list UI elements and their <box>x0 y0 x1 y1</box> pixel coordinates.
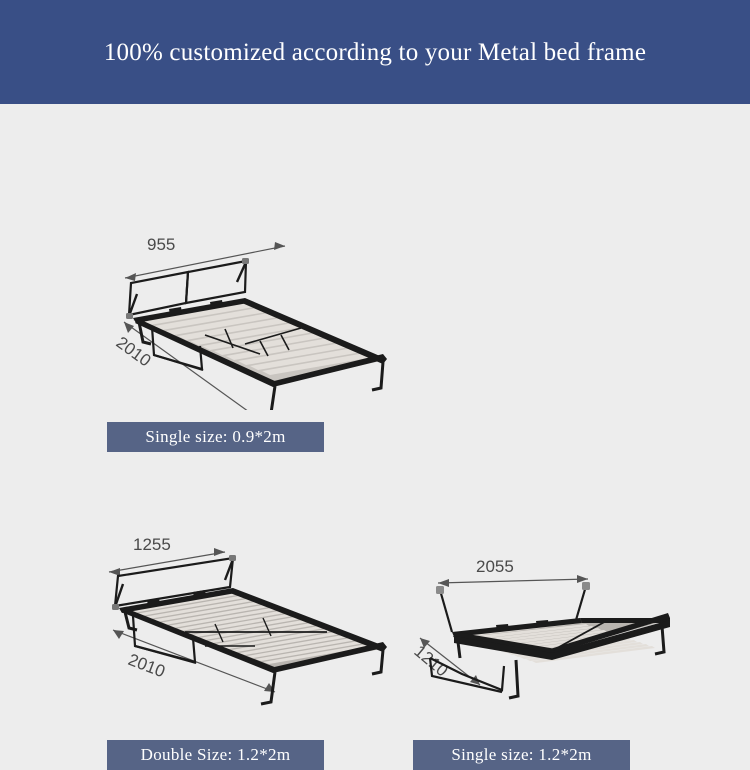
double-bed-frame-diagram: 1255 2010 <box>85 520 415 710</box>
size-badge-label: Single size: 1.2*2m <box>451 745 591 765</box>
size-badge-label: Single size: 0.9*2m <box>145 427 285 447</box>
size-badge-label: Double Size: 1.2*2m <box>141 745 291 765</box>
page-title: 100% customized according to your Metal … <box>104 40 646 65</box>
product-card-single-12: 2055 1210 <box>390 540 740 769</box>
bed-frame-graphic <box>126 258 387 410</box>
size-badge-single-12: Single size: 1.2*2m <box>413 740 630 770</box>
single-bed-frame-wide-diagram: 2055 1210 <box>390 540 740 710</box>
size-badge-double-12: Double Size: 1.2*2m <box>107 740 324 770</box>
dimension-label-2055: 2055 <box>476 557 514 576</box>
dimension-label-2010-double: 2010 <box>126 650 168 681</box>
bed-frame-graphic <box>430 582 670 698</box>
dimension-arrow-2055 <box>438 575 588 587</box>
product-card-single-09: 955 2010 <box>85 130 415 470</box>
size-badge-single-09: Single size: 0.9*2m <box>107 422 324 452</box>
dimension-label-955: 955 <box>147 235 175 254</box>
page-header-banner: 100% customized according to your Metal … <box>0 0 750 104</box>
product-card-double-12: 1255 2010 <box>85 520 415 769</box>
single-bed-frame-diagram: 955 2010 <box>85 130 415 410</box>
dimension-label-2010: 2010 <box>113 333 155 371</box>
dimension-label-1255: 1255 <box>133 535 171 554</box>
